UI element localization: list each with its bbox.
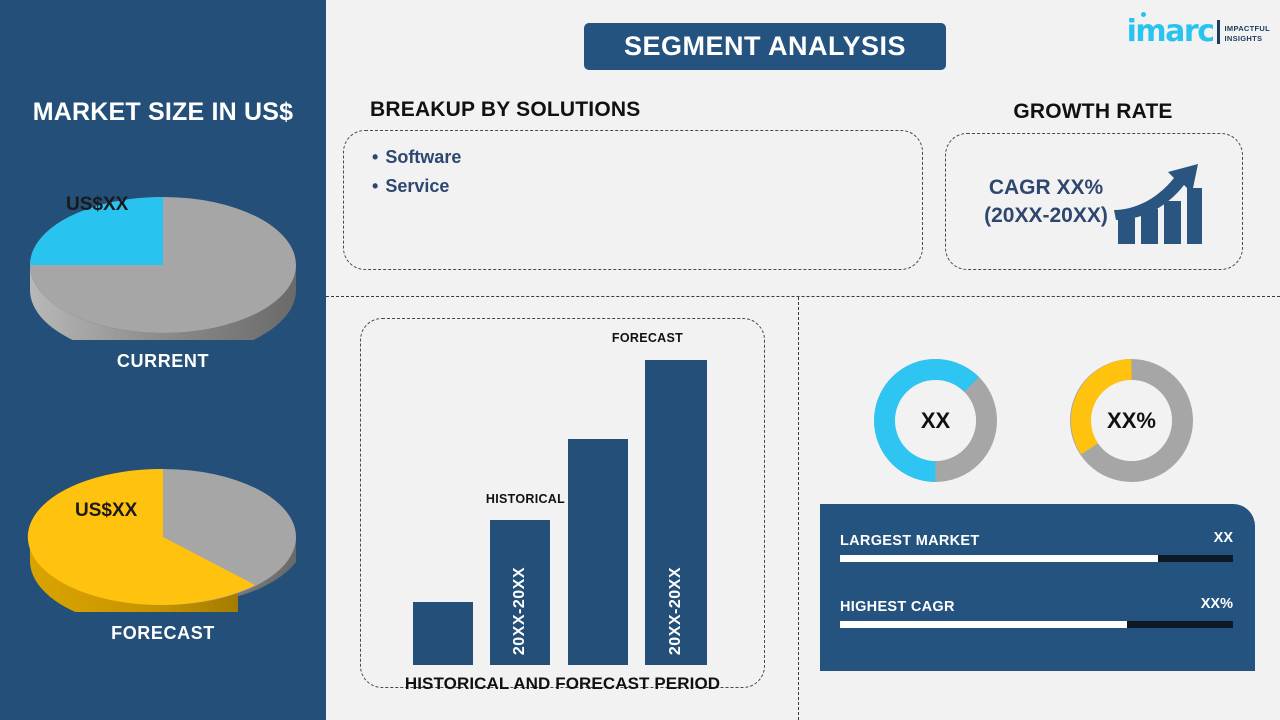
- donut-a-value: XX: [921, 408, 950, 434]
- list-item: •Software: [372, 143, 461, 172]
- pie-slice-accent-current: [30, 197, 163, 265]
- growth-rate-heading: GROWTH RATE: [942, 100, 1244, 124]
- market-size-sidebar: MARKET SIZE IN US$ US$XX CURRE: [0, 0, 326, 720]
- cagr-text: CAGR XX% (20XX-20XX): [984, 174, 1108, 230]
- historical-forecast-bar-chart: HISTORICAL 20XX-20XX FORECAST 20XX-20XX: [405, 340, 725, 665]
- logo-tagline-line1: IMPACTFUL: [1225, 24, 1270, 34]
- solutions-list: •Software •Service: [372, 143, 461, 201]
- logo-wordmark: imarc: [1127, 18, 1214, 46]
- bullet-icon: •: [372, 176, 378, 196]
- donut-b-value: XX%: [1107, 408, 1156, 434]
- largest-market-value: XX: [1214, 530, 1233, 546]
- page-title: SEGMENT ANALYSIS: [624, 31, 906, 62]
- highest-cagr-value: XX%: [1201, 596, 1233, 612]
- current-pie-block: US$XX CURRENT: [0, 160, 326, 372]
- donut-chart-largest-market: XX: [873, 358, 998, 483]
- historical-annotation: HISTORICAL: [483, 492, 568, 506]
- page-title-banner: SEGMENT ANALYSIS: [584, 23, 946, 70]
- logo-tagline: IMPACTFUL INSIGHTS: [1225, 24, 1270, 46]
- solutions-panel: •Software •Service: [343, 130, 923, 270]
- segment-analysis-infographic: MARKET SIZE IN US$ US$XX CURRE: [0, 0, 1280, 720]
- highest-cagr-label: HIGHEST CAGR: [840, 599, 955, 615]
- historical-period-label: 20XX-20XX: [511, 567, 529, 655]
- solutions-item-0-label: Software: [385, 147, 461, 167]
- highest-cagr-progress-fill: [840, 621, 1127, 628]
- vertical-divider: [798, 297, 799, 720]
- donut-chart-highest-cagr: XX%: [1069, 358, 1194, 483]
- table-row: [413, 602, 473, 665]
- solutions-heading: BREAKUP BY SOLUTIONS: [370, 98, 640, 122]
- logo-divider-icon: [1217, 20, 1220, 44]
- largest-market-progress-fill: [840, 555, 1158, 562]
- cagr-value: CAGR XX%: [984, 174, 1108, 202]
- stat-row-highest-cagr: HIGHEST CAGR XX%: [840, 598, 1233, 628]
- horizontal-divider: [326, 296, 1280, 297]
- logo-dot-icon: [1141, 12, 1146, 17]
- table-row: 20XX-20XX: [645, 360, 707, 665]
- logo-tagline-line2: INSIGHTS: [1225, 34, 1270, 44]
- forecast-annotation: FORECAST: [605, 331, 690, 345]
- bar-chart-caption: HISTORICAL AND FORECAST PERIOD: [360, 674, 765, 694]
- imarc-logo: imarc IMPACTFUL INSIGHTS: [1127, 12, 1270, 46]
- solutions-item-1-label: Service: [385, 176, 449, 196]
- current-pie-caption: CURRENT: [0, 351, 326, 372]
- forecast-pie-chart: [0, 432, 326, 612]
- forecast-pie-caption: FORECAST: [0, 623, 326, 644]
- current-pie-chart: [0, 160, 326, 340]
- list-item: •Service: [372, 172, 461, 201]
- market-stats-panel: LARGEST MARKET XX HIGHEST CAGR XX%: [820, 504, 1255, 671]
- forecast-pie-block: US$XX FORECAST: [0, 432, 326, 644]
- growth-rate-content: CAGR XX% (20XX-20XX): [945, 133, 1243, 270]
- largest-market-label: LARGEST MARKET: [840, 533, 980, 549]
- table-row: [568, 439, 628, 665]
- table-row: 20XX-20XX: [490, 520, 550, 665]
- donut-b-center: XX%: [1091, 380, 1172, 461]
- growth-arrow-chart-icon: [1112, 158, 1204, 246]
- bullet-icon: •: [372, 147, 378, 167]
- sidebar-title: MARKET SIZE IN US$: [0, 98, 326, 127]
- largest-market-progress-track: [840, 555, 1233, 562]
- cagr-period: (20XX-20XX): [984, 202, 1108, 230]
- donut-a-center: XX: [895, 380, 976, 461]
- highest-cagr-progress-track: [840, 621, 1233, 628]
- stat-row-largest-market: LARGEST MARKET XX: [840, 532, 1233, 562]
- forecast-period-label: 20XX-20XX: [667, 567, 685, 655]
